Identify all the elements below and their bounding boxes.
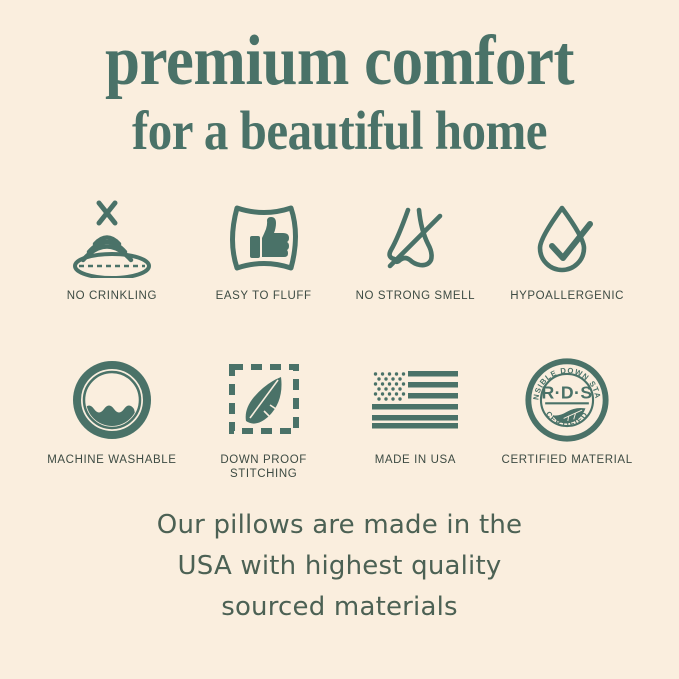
feature-grid: NO CRINKLING EASY TO FLUFF — [36, 196, 643, 482]
feature-certified-material: RESPONSIBLE DOWN STANDARD CERTIFIED R·D·… — [491, 356, 643, 482]
thumbs-up-pillow-icon — [225, 196, 303, 280]
feature-label: HYPOALLERGENIC — [510, 289, 624, 304]
footer-line-1: Our pillows are made in the — [0, 505, 679, 546]
feature-label: CERTIFIED MATERIAL — [502, 453, 633, 468]
droplet-check-icon — [528, 196, 606, 280]
no-crinkling-icon — [69, 196, 155, 280]
feature-no-strong-smell: NO STRONG SMELL — [340, 196, 492, 304]
headline-block: premium comfort for a beautiful home — [0, 0, 679, 152]
feature-label: MACHINE WASHABLE — [47, 453, 176, 468]
rds-badge-icon: RESPONSIBLE DOWN STANDARD CERTIFIED R·D·… — [525, 356, 609, 444]
feature-label: NO STRONG SMELL — [356, 289, 476, 304]
feature-label: EASY TO FLUFF — [216, 289, 312, 304]
feature-made-in-usa: MADE IN USA — [340, 356, 492, 482]
rds-center-text: R·D·S — [542, 382, 593, 402]
feature-hypoallergenic: HYPOALLERGENIC — [491, 196, 643, 304]
feature-down-proof-stitching: DOWN PROOF STITCHING — [188, 356, 340, 482]
feature-easy-to-fluff: EASY TO FLUFF — [188, 196, 340, 304]
feather-dashed-box-icon — [224, 356, 304, 444]
no-smell-nose-icon — [376, 196, 454, 280]
promo-banner: premium comfort for a beautiful home — [0, 0, 679, 679]
footer-paragraph: Our pillows are made in the USA with hig… — [0, 505, 679, 628]
headline-line-1: premium comfort — [0, 26, 679, 97]
footer-line-3: sourced materials — [0, 587, 679, 628]
washing-machine-icon — [71, 356, 153, 444]
usa-flag-icon — [372, 356, 458, 444]
feature-no-crinkling: NO CRINKLING — [36, 196, 188, 304]
feature-label: MADE IN USA — [375, 453, 456, 468]
headline-line-2: for a beautiful home — [0, 103, 679, 158]
feature-label: DOWN PROOF STITCHING — [220, 453, 307, 482]
feature-machine-washable: MACHINE WASHABLE — [36, 356, 188, 482]
feature-label: NO CRINKLING — [67, 289, 157, 304]
footer-line-2: USA with highest quality — [0, 546, 679, 587]
